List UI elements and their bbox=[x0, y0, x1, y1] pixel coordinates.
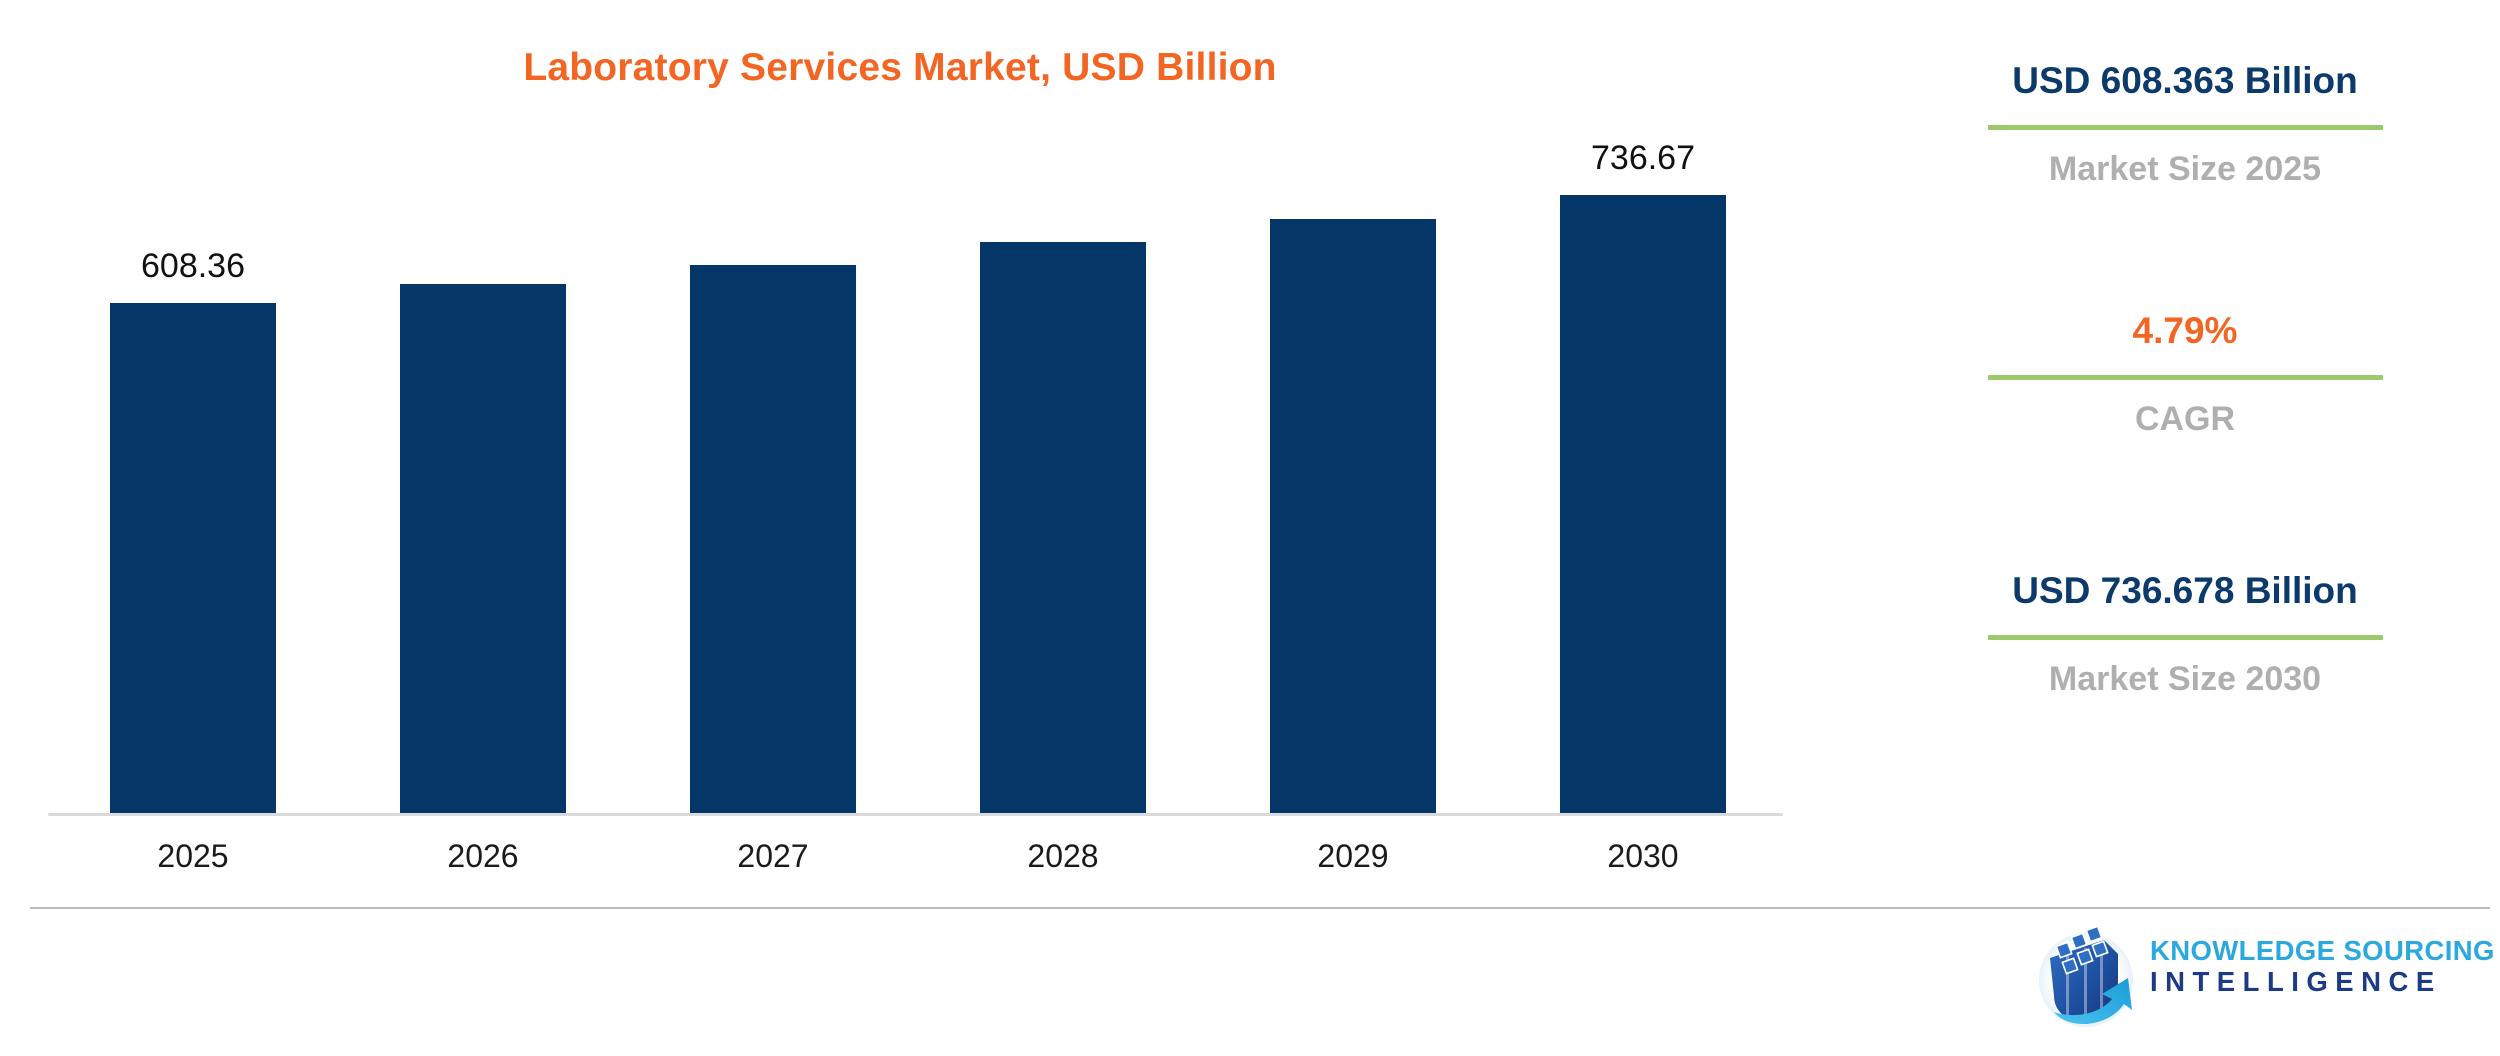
stat-caption-3: Market Size 2030 bbox=[1870, 660, 2500, 699]
bar-2026[interactable] bbox=[400, 284, 566, 813]
stat-caption-2: CAGR bbox=[1870, 400, 2500, 439]
footer-divider bbox=[30, 907, 2490, 909]
stat-value-3: USD 736.678 Billion bbox=[1870, 570, 2500, 613]
x-axis-label-2029: 2029 bbox=[1210, 838, 1496, 875]
bar-value-label-2025: 608.36 bbox=[20, 247, 366, 286]
logo-line-intelligence: INTELLIGENCE bbox=[2150, 967, 2486, 998]
x-axis-line bbox=[48, 813, 1783, 816]
x-axis-label-2025: 2025 bbox=[50, 838, 336, 875]
stat-divider-3 bbox=[1988, 635, 2383, 640]
stats-panel: USD 608.363 BillionMarket Size 20254.79%… bbox=[1870, 60, 2500, 850]
bar-2029[interactable] bbox=[1270, 219, 1436, 813]
x-axis-label-2026: 2026 bbox=[340, 838, 626, 875]
bar-2027[interactable] bbox=[690, 265, 856, 813]
bar-2025[interactable] bbox=[110, 303, 276, 813]
stat-block-1: USD 608.363 BillionMarket Size 2025 bbox=[1870, 60, 2500, 189]
x-axis-label-2030: 2030 bbox=[1500, 838, 1786, 875]
bar-value-label-2030: 736.67 bbox=[1470, 139, 1816, 178]
plot-area: 608.3620252026202720282029736.672030 bbox=[0, 0, 1800, 900]
stat-block-2: 4.79%CAGR bbox=[1870, 310, 2500, 439]
knowledge-sourcing-intelligence-logo: KNOWLEDGE SOURCING INTELLIGENCE bbox=[2028, 912, 2488, 1044]
stat-divider-1 bbox=[1988, 125, 2383, 130]
x-axis-label-2028: 2028 bbox=[920, 838, 1206, 875]
chart-panel: Laboratory Services Market, USD Billion … bbox=[0, 0, 1800, 900]
chart-canvas: Laboratory Services Market, USD Billion … bbox=[0, 0, 2500, 1056]
x-axis-label-2027: 2027 bbox=[630, 838, 916, 875]
stat-value-1: USD 608.363 Billion bbox=[1870, 60, 2500, 103]
stat-divider-2 bbox=[1988, 375, 2383, 380]
bar-2030[interactable] bbox=[1560, 195, 1726, 813]
logo-wordmark: KNOWLEDGE SOURCING INTELLIGENCE bbox=[2150, 936, 2486, 998]
stat-value-2: 4.79% bbox=[1870, 310, 2500, 353]
bar-2028[interactable] bbox=[980, 242, 1146, 813]
stat-caption-1: Market Size 2025 bbox=[1870, 150, 2500, 189]
stat-block-3: USD 736.678 BillionMarket Size 2030 bbox=[1870, 570, 2500, 699]
logo-line-knowledge-sourcing: KNOWLEDGE SOURCING bbox=[2150, 936, 2486, 967]
logo-mark-icon bbox=[2028, 920, 2144, 1036]
